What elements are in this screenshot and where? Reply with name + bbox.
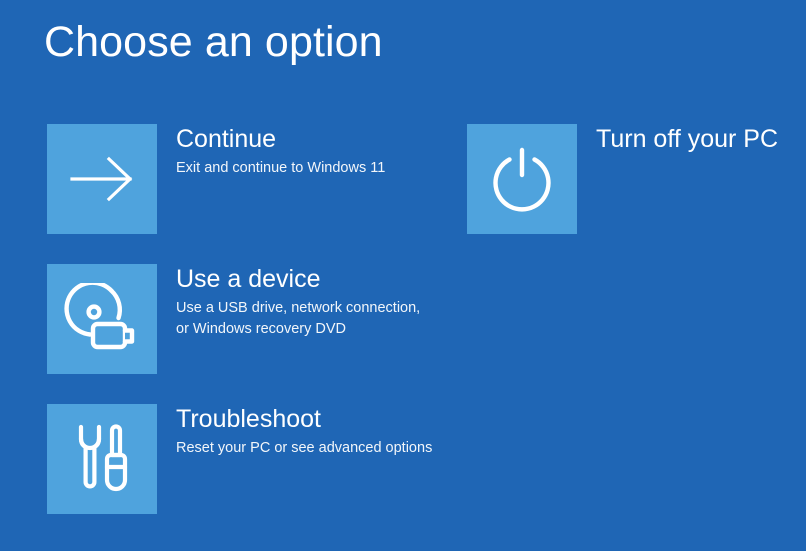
option-continue-description-line-1: Exit and continue to Windows 11 (176, 158, 385, 179)
option-use-a-device-text: Use a device Use a USB drive, network co… (157, 264, 420, 340)
disc-usb-device-icon (64, 283, 140, 355)
option-turn-off-your-pc-tile[interactable] (467, 124, 577, 234)
option-use-a-device-title: Use a device (176, 264, 420, 295)
choose-an-option-screen: Choose an option Continue Exit a (0, 0, 806, 551)
option-continue-title: Continue (176, 124, 385, 155)
option-use-a-device-tile[interactable] (47, 264, 157, 374)
option-continue-description: Exit and continue to Windows 11 (176, 158, 385, 179)
option-troubleshoot-title: Troubleshoot (176, 404, 432, 435)
option-troubleshoot[interactable]: Troubleshoot Reset your PC or see advanc… (47, 404, 447, 514)
power-icon (487, 144, 557, 214)
arrow-right-icon (66, 155, 138, 203)
option-troubleshoot-tile[interactable] (47, 404, 157, 514)
option-turn-off-your-pc-text: Turn off your PC (577, 124, 778, 155)
option-use-a-device-description: Use a USB drive, network connection, or … (176, 298, 420, 340)
option-turn-off-your-pc-title: Turn off your PC (596, 124, 778, 155)
option-continue[interactable]: Continue Exit and continue to Windows 11 (47, 124, 447, 234)
wrench-screwdriver-icon (70, 422, 134, 496)
options-column-left: Continue Exit and continue to Windows 11 (47, 124, 447, 544)
option-continue-tile[interactable] (47, 124, 157, 234)
option-use-a-device[interactable]: Use a device Use a USB drive, network co… (47, 264, 447, 374)
option-use-a-device-description-line-1: Use a USB drive, network connection, (176, 298, 420, 319)
options-area: Continue Exit and continue to Windows 11 (0, 124, 806, 524)
page-title: Choose an option (44, 14, 383, 70)
option-troubleshoot-text: Troubleshoot Reset your PC or see advanc… (157, 404, 432, 459)
option-continue-text: Continue Exit and continue to Windows 11 (157, 124, 385, 179)
options-column-right: Turn off your PC (467, 124, 797, 264)
option-troubleshoot-description: Reset your PC or see advanced options (176, 438, 432, 459)
option-use-a-device-description-line-2: or Windows recovery DVD (176, 319, 420, 340)
option-troubleshoot-description-line-1: Reset your PC or see advanced options (176, 438, 432, 459)
option-turn-off-your-pc[interactable]: Turn off your PC (467, 124, 797, 234)
